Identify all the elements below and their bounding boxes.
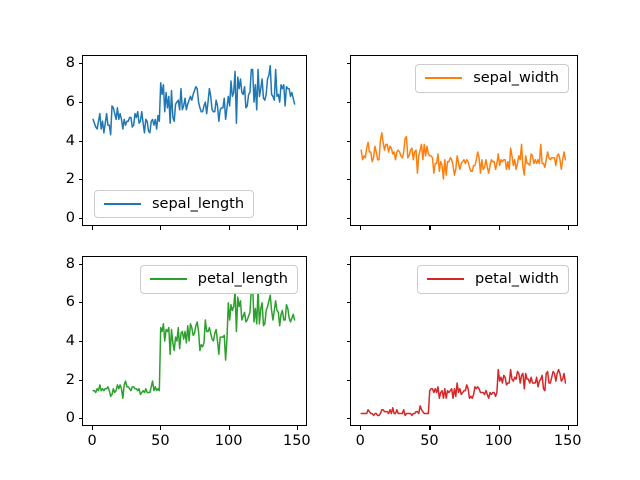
y-tick-mark — [347, 141, 351, 142]
legend-swatch-sepal-width — [425, 77, 462, 79]
matplotlib-figure: 02468 sepal_length sepal_width 02468 050… — [0, 0, 640, 480]
x-tick-mark — [92, 226, 93, 230]
y-tick-mark — [79, 380, 83, 381]
y-tick-mark — [347, 63, 351, 64]
y-tick-mark — [347, 264, 351, 265]
legend-swatch-petal-length — [150, 278, 187, 280]
y-tick-mark — [347, 302, 351, 303]
y-tick-mark — [347, 341, 351, 342]
x-tick-mark — [499, 426, 500, 430]
subplot-sepal-length: 02468 sepal_length — [82, 55, 307, 226]
x-tick-mark — [92, 426, 93, 430]
x-tick-label: 150 — [283, 434, 311, 449]
x-tick-label: 50 — [151, 434, 169, 449]
x-tick-mark — [229, 426, 230, 430]
x-tick-mark — [229, 226, 230, 230]
legend-sepal-width[interactable]: sepal_width — [415, 64, 569, 93]
x-tick-mark — [297, 426, 298, 430]
y-tick-mark — [347, 380, 351, 381]
x-tick-mark — [429, 426, 430, 430]
y-tick-mark — [79, 264, 83, 265]
x-tick-mark — [297, 226, 298, 230]
x-tick-mark — [568, 226, 569, 230]
x-tick-mark — [499, 226, 500, 230]
y-tick-mark — [79, 302, 83, 303]
subplot-petal-length: 02468 050100150 petal_length — [82, 256, 307, 426]
y-tick-mark — [347, 218, 351, 219]
y-tick-label: 4 — [66, 334, 75, 349]
y-tick-mark — [347, 179, 351, 180]
legend-sepal-length[interactable]: sepal_length — [94, 190, 254, 219]
legend-petal-length[interactable]: petal_length — [140, 265, 298, 294]
y-tick-mark — [79, 63, 83, 64]
y-tick-label: 2 — [66, 172, 75, 187]
legend-label-petal-width: petal_width — [475, 272, 559, 287]
y-tick-mark — [79, 141, 83, 142]
legend-label-sepal-length: sepal_length — [152, 197, 244, 212]
subplot-sepal-width: sepal_width — [350, 55, 578, 226]
x-tick-mark — [360, 226, 361, 230]
y-tick-label: 2 — [66, 372, 75, 387]
legend-label-sepal-width: sepal_width — [473, 71, 559, 86]
y-tick-label: 6 — [66, 94, 75, 109]
y-tick-label: 8 — [66, 256, 75, 271]
x-tick-mark — [360, 426, 361, 430]
x-tick-mark — [160, 426, 161, 430]
y-tick-mark — [79, 341, 83, 342]
series-line-petal-width — [361, 370, 565, 416]
legend-label-petal-length: petal_length — [198, 272, 288, 287]
y-tick-label: 8 — [66, 56, 75, 71]
y-tick-label: 0 — [66, 211, 75, 226]
y-tick-mark — [79, 179, 83, 180]
series-line-sepal-width — [361, 133, 565, 179]
x-tick-mark — [429, 226, 430, 230]
x-tick-label: 50 — [420, 434, 438, 449]
x-tick-label: 100 — [215, 434, 243, 449]
x-tick-mark — [568, 426, 569, 430]
x-tick-label: 150 — [554, 434, 582, 449]
y-tick-label: 6 — [66, 295, 75, 310]
legend-swatch-sepal-length — [104, 203, 141, 205]
legend-swatch-petal-width — [427, 278, 464, 280]
y-tick-mark — [347, 418, 351, 419]
subplot-petal-width: 050100150 petal_width — [350, 256, 578, 426]
y-tick-label: 0 — [66, 411, 75, 426]
y-tick-mark — [347, 102, 351, 103]
x-tick-label: 0 — [88, 434, 97, 449]
y-tick-label: 4 — [66, 133, 75, 148]
legend-petal-width[interactable]: petal_width — [417, 265, 569, 294]
y-tick-mark — [79, 218, 83, 219]
series-line-petal-length — [93, 286, 294, 399]
x-tick-label: 0 — [356, 434, 365, 449]
series-line-sepal-length — [93, 66, 294, 135]
y-tick-mark — [79, 418, 83, 419]
y-tick-mark — [79, 102, 83, 103]
x-tick-mark — [160, 226, 161, 230]
x-tick-label: 100 — [485, 434, 513, 449]
